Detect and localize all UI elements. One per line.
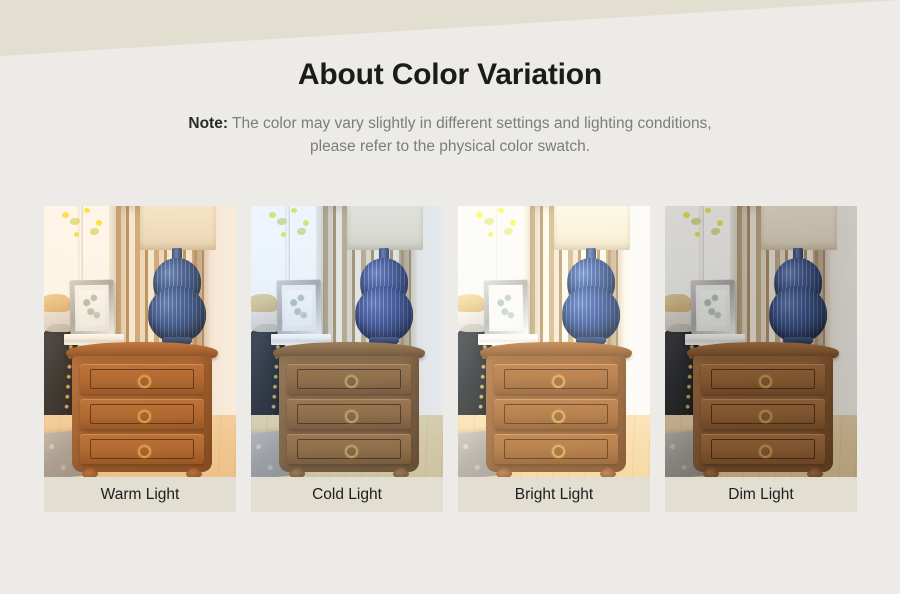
- picture-frame-mat: [696, 285, 731, 332]
- flower-icon: [62, 212, 69, 218]
- room-scene: [665, 206, 857, 477]
- flower-icon: [281, 232, 286, 237]
- room-photo-bright[interactable]: [458, 206, 650, 477]
- lamp-shade: [554, 206, 630, 250]
- note-body-line-1: The color may vary slightly in different…: [232, 115, 712, 132]
- lamp-shade: [761, 206, 837, 250]
- picture-frame-mat: [282, 285, 317, 332]
- room-scene: [458, 206, 650, 477]
- chair-arm: [251, 294, 277, 312]
- lamp-flutes: [769, 286, 827, 342]
- variation-panel-warm[interactable]: Warm Light: [44, 206, 236, 512]
- chair-arm: [458, 294, 484, 312]
- nightstand-drawer[interactable]: [80, 364, 204, 394]
- lamp-body-lower: [148, 286, 206, 342]
- flower-icon: [291, 208, 297, 213]
- drawer-pull[interactable]: [552, 410, 565, 423]
- flower-icon: [510, 220, 516, 226]
- nightstand-body: [72, 356, 212, 472]
- flower-icon: [84, 208, 90, 213]
- flower-icon: [498, 208, 504, 213]
- drawer-pull[interactable]: [759, 375, 772, 388]
- nightstand-leg: [395, 468, 407, 477]
- nightstand-drawer[interactable]: [494, 399, 618, 429]
- chair-arm: [665, 294, 691, 312]
- lamp-flutes: [148, 286, 206, 342]
- drawer-pull[interactable]: [552, 445, 565, 458]
- nightstand-body: [693, 356, 833, 472]
- lamp-shade: [140, 206, 216, 250]
- flower-icon: [695, 232, 700, 237]
- picture-frame-art: [493, 290, 520, 326]
- room-photo-warm[interactable]: [44, 206, 236, 477]
- nightstand-drawer[interactable]: [287, 364, 411, 394]
- nightstand-body: [279, 356, 419, 472]
- nightstand-drawer[interactable]: [701, 364, 825, 394]
- picture-frame: [70, 280, 115, 337]
- picture-frame-art: [286, 290, 313, 326]
- drawer-pull[interactable]: [345, 375, 358, 388]
- variation-gallery: Warm Light: [44, 206, 857, 512]
- drawer-pull[interactable]: [759, 410, 772, 423]
- lamp-body-lower: [562, 286, 620, 342]
- panel-caption: Cold Light: [251, 477, 443, 512]
- flower-icon: [476, 212, 483, 218]
- lamp-shade: [347, 206, 423, 250]
- nightstand-drawer[interactable]: [494, 434, 618, 464]
- picture-frame: [484, 280, 529, 337]
- drawer-pull[interactable]: [552, 375, 565, 388]
- page-title: About Color Variation: [0, 0, 900, 92]
- lamp-body-lower: [355, 286, 413, 342]
- nightstand-drawer[interactable]: [80, 434, 204, 464]
- drawer-pull[interactable]: [345, 410, 358, 423]
- note-label: Note:: [188, 115, 228, 132]
- room-photo-cold[interactable]: [251, 206, 443, 477]
- nightstand-leg: [809, 468, 821, 477]
- nightstand-leg: [188, 468, 200, 477]
- variation-panel-dim[interactable]: Dim Light: [665, 206, 857, 512]
- nightstand-drawer[interactable]: [287, 434, 411, 464]
- picture-frame-mat: [489, 285, 524, 332]
- panel-caption: Dim Light: [665, 477, 857, 512]
- chair-arm: [44, 294, 70, 312]
- picture-frame-art: [700, 290, 727, 326]
- variation-panel-cold[interactable]: Cold Light: [251, 206, 443, 512]
- nightstand-drawer[interactable]: [701, 434, 825, 464]
- room-scene: [251, 206, 443, 477]
- picture-frame: [691, 280, 736, 337]
- lamp-flutes: [355, 286, 413, 342]
- flower-icon: [96, 220, 102, 226]
- note-line-1: Note: The color may vary slightly in dif…: [0, 112, 900, 135]
- note-body-line-2: please refer to the physical color swatc…: [0, 135, 900, 158]
- flower-icon: [488, 232, 493, 237]
- flower-icon: [683, 212, 690, 218]
- color-variation-page: About Color Variation Note: The color ma…: [0, 0, 900, 594]
- room-scene: [44, 206, 236, 477]
- flower-icon: [269, 212, 276, 218]
- picture-frame-mat: [75, 285, 110, 332]
- picture-frame: [277, 280, 322, 337]
- flower-icon: [74, 232, 79, 237]
- lamp-flutes: [562, 286, 620, 342]
- variation-panel-bright[interactable]: Bright Light: [458, 206, 650, 512]
- drawer-pull[interactable]: [345, 445, 358, 458]
- drawer-pull[interactable]: [138, 445, 151, 458]
- flower-icon: [705, 208, 711, 213]
- drawer-pull[interactable]: [138, 375, 151, 388]
- picture-frame-art: [79, 290, 106, 326]
- header: About Color Variation Note: The color ma…: [0, 0, 900, 158]
- panel-caption: Warm Light: [44, 477, 236, 512]
- nightstand-leg: [291, 468, 303, 477]
- nightstand-drawer[interactable]: [287, 399, 411, 429]
- drawer-pull[interactable]: [138, 410, 151, 423]
- nightstand-drawer[interactable]: [701, 399, 825, 429]
- note-text: Note: The color may vary slightly in dif…: [0, 92, 900, 158]
- flower-icon: [303, 220, 309, 226]
- nightstand-drawer[interactable]: [80, 399, 204, 429]
- drawer-pull[interactable]: [759, 445, 772, 458]
- nightstand-leg: [602, 468, 614, 477]
- nightstand-leg: [705, 468, 717, 477]
- nightstand-leg: [498, 468, 510, 477]
- flower-icon: [717, 220, 723, 226]
- nightstand-drawer[interactable]: [494, 364, 618, 394]
- panel-caption: Bright Light: [458, 477, 650, 512]
- nightstand-leg: [84, 468, 96, 477]
- lamp-body-lower: [769, 286, 827, 342]
- nightstand-body: [486, 356, 626, 472]
- room-photo-dim[interactable]: [665, 206, 857, 477]
